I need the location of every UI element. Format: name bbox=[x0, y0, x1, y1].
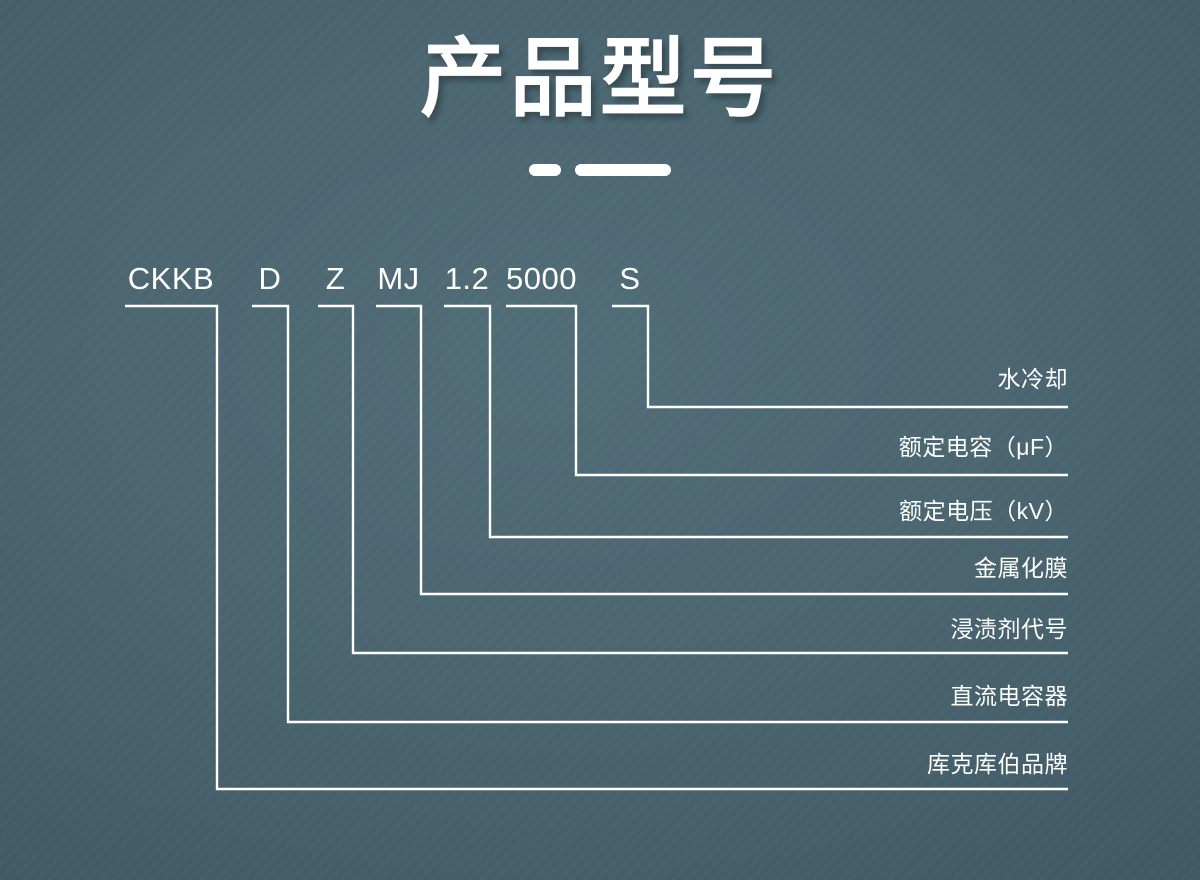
code-segment-5000: 5000 bbox=[506, 263, 576, 295]
code-segment-z: Z bbox=[318, 263, 353, 295]
model-code-breakdown-diagram: CKKBDZMJ1.25000S 水冷却额定电容（μF）额定电压（kV）金属化膜… bbox=[0, 0, 1200, 880]
label-brand: 库克库伯品牌 bbox=[620, 751, 1068, 777]
code-segment-ckkb: CKKB bbox=[125, 263, 217, 295]
label-rated-capacity: 额定电容（μF） bbox=[620, 434, 1068, 460]
label-rated-voltage: 额定电压（kV） bbox=[620, 498, 1068, 524]
leader-line-z bbox=[318, 306, 1068, 653]
code-segment-d: D bbox=[252, 263, 288, 295]
label-metallized-film: 金属化膜 bbox=[620, 555, 1068, 581]
product-model-diagram-page: 产品型号 CKKBDZMJ1.25000S 水冷却额定电容（μF）额定电压（kV… bbox=[0, 0, 1200, 880]
label-water-cooling: 水冷却 bbox=[620, 366, 1068, 392]
label-dc-capacitor: 直流电容器 bbox=[620, 683, 1068, 709]
code-segment-12: 1.2 bbox=[444, 263, 490, 295]
label-impregnant-code: 浸渍剂代号 bbox=[620, 616, 1068, 642]
code-segment-s: S bbox=[612, 263, 648, 295]
code-segment-mj: MJ bbox=[376, 263, 421, 295]
